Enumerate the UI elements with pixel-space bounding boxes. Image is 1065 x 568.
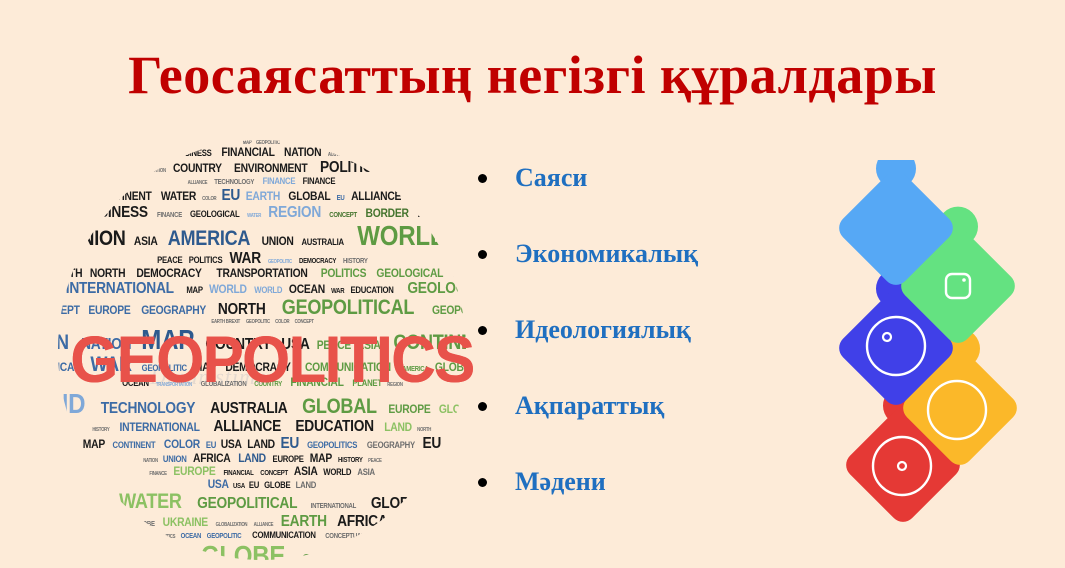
wordcloud-row: UsaUsaEuGlobeLand <box>58 478 466 491</box>
wordcloud-word: Geography <box>141 304 207 317</box>
wordcloud-row: GlobeAfricaInternationalMapWorldWorldOce… <box>58 280 466 297</box>
wordcloud-word: America <box>401 366 429 374</box>
wordcloud-word: Eu <box>336 195 346 203</box>
wordcloud-word: Land <box>237 452 266 465</box>
wordcloud-word: Peace <box>315 339 351 352</box>
wordcloud-row: NorthNorthDemocracyTransportationPolitic… <box>58 267 466 280</box>
wordcloud-word: International <box>119 421 201 434</box>
wordcloud-word: Usa <box>207 478 230 491</box>
wordcloud-word: Ocean <box>288 283 326 296</box>
list-item[interactable]: Экономикалық <box>478 216 808 292</box>
wordcloud-word: Africa <box>463 552 466 560</box>
wordcloud-word: Region <box>58 548 91 560</box>
wordcloud-word: North <box>89 267 126 280</box>
list-item[interactable]: Идеологиялық <box>478 292 808 368</box>
wordcloud-word: International <box>65 280 175 297</box>
wordcloud-row: OceanTransportationGlobalizationCountryF… <box>58 376 466 389</box>
wordcloud-word: Eu <box>205 440 217 450</box>
wordcloud-word: Transportation <box>215 267 308 280</box>
wordcloud-word: Environment <box>233 162 308 175</box>
list-item[interactable]: Мәдени <box>478 444 808 520</box>
wordcloud-word: North <box>58 267 83 280</box>
wordcloud-word: America <box>102 552 166 560</box>
wordcloud-word: Globalization <box>370 495 466 512</box>
wordcloud-word: Nation <box>58 332 70 354</box>
wordcloud-word: Geopolitic <box>408 196 434 202</box>
wordcloud-word: Ocean <box>179 533 201 541</box>
wordcloud-word: Alliance <box>187 180 208 186</box>
wordcloud-word: History <box>92 427 111 433</box>
wordcloud-word: Ukraine <box>389 168 409 174</box>
wordcloud-word: Globe <box>434 361 466 374</box>
list-item-label: Экономикалық <box>515 239 698 269</box>
wordcloud-word: Border <box>364 207 409 220</box>
wordcloud-words: MapGeopoliticBusinessFinancialNationAust… <box>58 140 466 560</box>
wordcloud-word: Business <box>174 148 213 158</box>
wordcloud-row: BusinessNationCountryEnvironmentPolitics… <box>58 159 466 176</box>
wordcloud-word: Peace <box>367 458 382 464</box>
wordcloud-row: LandUnionAsiaAmericaUnionAustraliaWorldG… <box>58 221 466 250</box>
wordcloud-image: MapGeopoliticBusinessFinancialNationAust… <box>58 140 466 560</box>
wordcloud-word: Earth <box>245 190 281 203</box>
page-title: Геосаясаттың негізгі құралдары <box>0 44 1065 106</box>
wordcloud-word: Politics <box>188 255 223 265</box>
wordcloud-word: Russia <box>433 513 466 530</box>
wordcloud-word: Geological <box>406 280 466 297</box>
wordcloud-word: Water <box>118 491 182 513</box>
wordcloud-word: Asia <box>293 465 318 478</box>
wordcloud-word: Land <box>58 241 62 247</box>
wordcloud-word: Land <box>384 421 413 434</box>
wordcloud-word: Union <box>261 235 295 248</box>
wordcloud-row: MapContinentColorEuUsaLandEuGeopoliticsG… <box>58 435 466 452</box>
wordcloud-word: Geological <box>376 267 445 280</box>
wordcloud-word: Geopolitical <box>281 297 415 319</box>
wordcloud-word: Business <box>79 204 149 221</box>
wordcloud-word: EU <box>220 187 240 204</box>
wordcloud-word: Conceptual <box>325 533 366 541</box>
wordcloud-word: Eu <box>422 435 442 452</box>
wordcloud-word: Financial <box>222 470 254 478</box>
wordcloud-word: World <box>323 467 353 477</box>
wordcloud-word: Country <box>172 162 223 175</box>
wordcloud-row: FinanceEuropeFinancialConceptAsiaWorldAs… <box>58 465 466 478</box>
wordcloud-row: PlanetEnvironmentGlobalizationHistoryWat… <box>58 491 466 513</box>
wordcloud-word: Alliance <box>350 190 402 203</box>
wordcloud-word: Earth <box>280 513 328 530</box>
wordcloud-word: Globe <box>263 480 291 490</box>
wordcloud-word: Nation <box>283 146 322 159</box>
wordcloud-word: Geopolitic <box>431 304 466 317</box>
wordcloud-word: Globe <box>200 541 286 560</box>
wordcloud-word: North <box>417 427 433 433</box>
wordcloud-word: Region <box>387 382 404 388</box>
wordcloud-word: Nation <box>142 458 158 464</box>
wordcloud-word: World <box>208 283 247 296</box>
wordcloud-word: Alliance <box>253 522 274 528</box>
wordcloud-word: Geopolitic <box>267 259 293 265</box>
wordcloud-row: ContinentWaterColorEUEarthGlobalEuAllian… <box>58 187 466 204</box>
wordcloud-word: Globalization <box>215 522 248 528</box>
wordcloud-word: World <box>356 221 447 250</box>
bullet-dot-icon <box>478 326 487 335</box>
wordcloud-word: Geography <box>366 440 416 450</box>
wordcloud-word: Technology <box>214 179 256 187</box>
wordcloud-word: War <box>90 354 133 376</box>
wordcloud-word: America <box>167 228 251 250</box>
wordcloud-word: International <box>310 503 357 511</box>
wordcloud-word: Earth <box>407 552 455 560</box>
wordcloud-word: Democracy <box>298 258 337 266</box>
wordcloud-word: Europe <box>88 304 132 317</box>
wordcloud-row: PoliticsOceanGeopoliticCommunicationConc… <box>58 530 466 541</box>
puzzle-graphic <box>818 160 1065 550</box>
wordcloud-word: History <box>452 272 466 280</box>
wordcloud-word: Peace <box>58 213 72 219</box>
wordcloud-word: Europe <box>388 403 432 416</box>
list-item[interactable]: Саяси <box>478 140 808 216</box>
wordcloud-word: Africa <box>192 452 231 465</box>
wordcloud-word: World <box>253 285 283 295</box>
wordcloud-row: PeaceBusinessFinanceGeologicalWaterRegio… <box>58 204 466 221</box>
wordcloud-word: America <box>417 207 465 220</box>
wordcloud-word: Geopolitics <box>306 440 358 450</box>
wordcloud-word: Globe <box>134 521 156 529</box>
wordcloud-word: Democracy <box>224 361 291 374</box>
wordcloud-word: Region <box>268 204 322 221</box>
wordcloud-circle: MapGeopoliticBusinessFinancialNationAust… <box>58 140 466 560</box>
wordcloud-word: Democracy <box>135 267 202 280</box>
wordcloud-word: Nation <box>150 168 166 174</box>
wordcloud-word: Concept <box>58 304 80 317</box>
wordcloud-word: Map <box>185 285 203 295</box>
wordcloud-row: FinancialTransportationGlobeUkraineGloba… <box>58 513 466 530</box>
wordcloud-word: Europe <box>272 454 305 464</box>
wordcloud-word: Global <box>301 396 377 418</box>
wordcloud-word: Africa <box>336 513 388 530</box>
wordcloud-word: Europe <box>172 465 216 478</box>
wordcloud-word: Country <box>205 336 272 353</box>
wordcloud-word: Communication <box>304 361 392 374</box>
wordcloud-word: Union <box>67 228 126 250</box>
wordcloud-word: Finance <box>157 212 184 220</box>
wordcloud-word: Asia <box>356 339 381 352</box>
wordcloud-word: Geological <box>58 361 81 374</box>
wordcloud-word: Financial <box>221 146 276 159</box>
wordcloud-word: Land <box>247 438 276 451</box>
wordcloud-word: Earth Brexit <box>210 319 240 325</box>
list-item[interactable]: Ақпараттық <box>478 368 808 444</box>
wordcloud-word: Eu <box>280 435 300 452</box>
wordcloud-row: EuAsiaRegionAmericaWarGlobeConceptualEar… <box>58 541 466 560</box>
wordcloud-word: Usa <box>220 438 243 451</box>
wordcloud-word: Geological <box>190 209 241 219</box>
wordcloud-word: Concept <box>329 212 358 220</box>
wordcloud-word: Globalization <box>199 381 246 389</box>
wordcloud-word: Land <box>58 389 86 418</box>
wordcloud-word: Australia <box>301 237 345 247</box>
wordcloud-row: PeacePoliticsWarGeopoliticDemocracyHisto… <box>58 250 466 267</box>
wordcloud-word: Concept <box>293 319 314 325</box>
wordcloud-word: Conceptual <box>301 552 396 560</box>
wordcloud-word: War <box>173 557 192 560</box>
wordcloud-word: Nation <box>80 336 132 353</box>
list-item-label: Ақпараттық <box>515 391 664 421</box>
wordcloud-word: Map <box>82 438 106 451</box>
slide: Геосаясаттың негізгі құралдары MapGeopol… <box>0 0 1065 568</box>
wordcloud-word: Finance <box>148 471 167 477</box>
wordcloud-word: Ukraine <box>162 516 209 529</box>
wordcloud-word: Globe <box>438 403 466 416</box>
bullet-dot-icon <box>478 402 487 411</box>
wordcloud-word: Map <box>309 452 333 465</box>
wordcloud-row: EuGeologicalWarGeopoliticMapDemocracyCom… <box>58 354 466 376</box>
wordcloud-word: Country <box>253 381 282 389</box>
list-item-label: Мәдени <box>515 467 606 497</box>
wordcloud-word: Education <box>294 418 374 435</box>
bullet-dot-icon <box>478 478 487 487</box>
wordcloud-word: Global <box>288 190 332 203</box>
wordcloud-word: Alliance <box>213 418 282 435</box>
wordcloud-word: Map <box>193 361 217 374</box>
wordcloud-word: Water <box>246 213 262 219</box>
wordcloud-row: HistoryInternationalAllianceEducationLan… <box>58 418 466 435</box>
wordcloud-word: Transportation <box>58 513 122 530</box>
wordcloud-word: Planet <box>395 518 426 528</box>
wordcloud-word: Australia <box>210 400 289 417</box>
wordcloud-word: Finance <box>301 176 335 186</box>
wordcloud-row: RussiaLandTechnologyAustraliaGlobalEurop… <box>58 389 466 418</box>
wordcloud-row: NationNationMapCountryUsaPeaceAsiaContin… <box>58 325 466 354</box>
wordcloud-row: NationUnionAfricaLandEuropeMapHistoryPea… <box>58 452 466 465</box>
wordcloud-word: Technology <box>99 400 195 417</box>
wordcloud-word: Peace <box>156 255 183 265</box>
wordcloud-word: Continent <box>112 440 157 450</box>
wordcloud-row: GlobeConceptEuropeGeographyNorthGeopolit… <box>58 297 466 319</box>
wordcloud-word: Politics <box>319 267 366 280</box>
wordcloud-word: Australia <box>327 152 351 158</box>
wordcloud-word: War <box>229 250 262 267</box>
bullet-list: СаясиЭкономикалықИдеологиялықАқпараттықМ… <box>478 140 808 520</box>
wordcloud-word: Planet <box>352 378 383 388</box>
wordcloud-word: History <box>337 457 363 465</box>
wordcloud-word: Color <box>163 438 201 451</box>
wordcloud-word: Color <box>274 319 290 325</box>
wordcloud-word: Geopolitic <box>206 533 242 541</box>
wordcloud-word: Ocean <box>121 378 149 388</box>
wordcloud-word: Continent <box>93 190 153 203</box>
wordcloud-word: Union <box>162 454 187 464</box>
wordcloud-word: Transportation <box>155 382 193 388</box>
wordcloud-word: Continent <box>392 332 466 354</box>
wordcloud-word: Eu <box>248 480 260 490</box>
wordcloud-word: Geopolitic <box>245 319 271 325</box>
bullet-dot-icon <box>478 174 487 183</box>
wordcloud-word: Financial <box>289 376 344 389</box>
wordcloud-word: Land <box>295 480 317 490</box>
wordcloud-word: Usa <box>232 483 246 491</box>
list-item-label: Саяси <box>515 163 587 193</box>
wordcloud-word: Map <box>140 325 194 354</box>
wordcloud-word: North <box>217 301 266 318</box>
wordcloud-word: Politics <box>319 159 382 176</box>
wordcloud-word: Global <box>456 241 466 247</box>
wordcloud-word: Asia <box>356 467 375 477</box>
wordcloud-word: History <box>58 495 108 512</box>
wordcloud-word: Water <box>160 190 197 203</box>
wordcloud-word: Education <box>350 285 395 295</box>
wordcloud-word: Communication <box>251 530 316 540</box>
wordcloud-word: War <box>330 288 345 296</box>
wordcloud-word: Asia <box>133 235 158 248</box>
wordcloud-word: Color <box>201 196 217 202</box>
wordcloud-word: Finance <box>262 176 296 186</box>
wordcloud-word: Usa <box>280 336 310 353</box>
wordcloud-row: BusinessFinancialNationAustralia <box>58 146 466 159</box>
wordcloud-word: Geopolitic <box>140 363 187 373</box>
wordcloud-row: AllianceTechnologyFinanceFinance <box>58 176 466 187</box>
list-item-label: Идеологиялық <box>515 315 691 345</box>
wordcloud-word: Concept <box>259 470 288 478</box>
bullet-dot-icon <box>478 250 487 259</box>
wordcloud-word: Business <box>116 167 146 175</box>
wordcloud-word: History <box>342 258 368 266</box>
wordcloud-word: Geopolitical <box>196 495 298 512</box>
wordcloud-word: Politics <box>156 534 175 540</box>
